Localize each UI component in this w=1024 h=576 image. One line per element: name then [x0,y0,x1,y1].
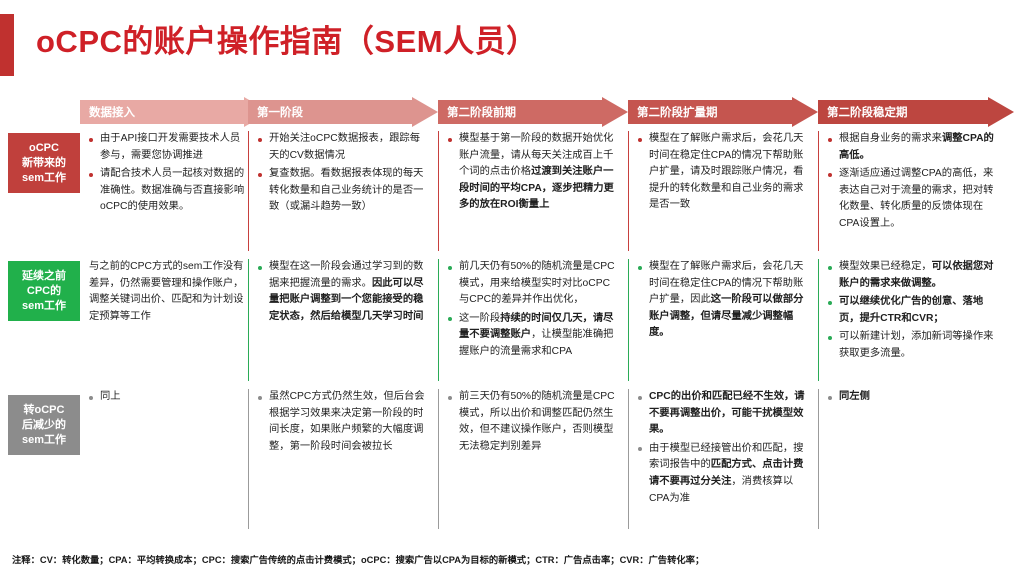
body-text: 根据自身业务的需求来 [839,133,942,144]
list-item: 由于模型已经接管出价和匹配，搜索词报告中的匹配方式、点击计费请不要再过分关注，消… [638,441,805,507]
bullet-list: 开始关注oCPC数据报表，跟踪每天的CV数据情况复查数据。看数据报表体现的每天转… [258,131,425,216]
cell-r3-c2: 虽然CPC方式仍然生效，但后台会根据学习效果来决定第一阶段的时间长度，如果账户频… [248,389,432,529]
stage-arrow-label: 第一阶段 [248,104,303,120]
row-label-line: oCPC [29,141,59,156]
cell-r3-c1: 同上 [80,389,252,529]
bullet-list: 模型在了解账户需求后，会花几天时间在稳定住CPA的情况下帮助账户扩量，因此这一阶… [638,259,805,342]
body-text: 请配合技术人员一起核对数据的准确性。数据准确与否直接影响oCPC的使用效果。 [100,168,244,212]
list-item: 可以新建计划，添加新词等操作来获取更多流量。 [828,329,1001,362]
list-item: 同左侧 [828,389,1001,406]
stage-arrow-head-icon [412,97,438,127]
list-item: 模型在了解账户需求后，会花几天时间在稳定住CPA的情况下帮助账户扩量，请及时跟踪… [638,131,805,214]
list-item: 这一阶段持续的时间仅几天，请尽量不要调整账户，让模型能准确把握账户的流量需求和C… [448,311,615,361]
row-label-3: 转oCPC后减少的sem工作 [8,395,80,455]
cell-r2-c2: 模型在这一阶段会通过学习到的数据来把握流量的需求。因此可以尽量把账户调整到一个您… [248,259,432,381]
body-text: 虽然CPC方式仍然生效，但后台会根据学习效果来决定第一阶段的时间长度，如果账户频… [269,391,425,452]
stage-arrow-4: 第二阶段扩量期 [628,97,818,127]
list-item: 模型在了解账户需求后，会花几天时间在稳定住CPA的情况下帮助账户扩量，因此这一阶… [638,259,805,342]
bullet-list: CPC的出价和匹配已经不生效，请不要再调整出价，可能干扰模型效果。由于模型已经接… [638,389,805,507]
title-bar: oCPC的账户操作指南（SEM人员） [0,14,1024,76]
body-text: 开始关注oCPC数据报表，跟踪每天的CV数据情况 [269,133,420,161]
cell-r1-c2: 开始关注oCPC数据报表，跟踪每天的CV数据情况复查数据。看数据报表体现的每天转… [248,131,432,251]
emphasis-text: 可以继续优化广告的创意、落地页，提升CTR和CVR； [839,296,983,324]
bullet-list: 前三天仍有50%的随机流量是CPC模式，所以出价和调整匹配仍然生效，但不建议操作… [448,389,615,455]
bullet-list: 同上 [89,389,245,406]
list-item: 前三天仍有50%的随机流量是CPC模式，所以出价和调整匹配仍然生效，但不建议操作… [448,389,615,455]
list-item: 开始关注oCPC数据报表，跟踪每天的CV数据情况 [258,131,425,164]
stage-arrow-head-icon [602,97,628,127]
cell-r2-c4: 模型在了解账户需求后，会花几天时间在稳定住CPA的情况下帮助账户扩量，因此这一阶… [628,259,812,381]
row-label-line: sem工作 [22,171,66,186]
stage-arrow-label: 数据接入 [80,104,135,120]
bullet-list: 由于API接口开发需要技术人员参与，需要您协调推进请配合技术人员一起核对数据的准… [89,131,245,216]
stage-arrow-header: 数据接入第一阶段第二阶段前期第二阶段扩量期第二阶段稳定期 [80,97,1014,127]
row-label-2: 延续之前CPC的sem工作 [8,261,80,321]
cell-r3-c3: 前三天仍有50%的随机流量是CPC模式，所以出价和调整匹配仍然生效，但不建议操作… [438,389,622,529]
cell-r1-c3: 模型基于第一阶段的数据开始优化账户流量，请从每天关注成百上千个词的点击价格过渡到… [438,131,622,251]
bullet-list: 同左侧 [828,389,1001,406]
row-label-line: 转oCPC [24,403,65,418]
row-label-line: 后减少的 [22,418,66,433]
row-label-line: 新带来的 [22,156,66,171]
stage-arrow-head-icon [792,97,818,127]
cell-r3-c4: CPC的出价和匹配已经不生效，请不要再调整出价，可能干扰模型效果。由于模型已经接… [628,389,812,529]
bullet-list: 模型效果已经稳定，可以依据您对账户的需求来做调整。可以继续优化广告的创意、落地页… [828,259,1001,363]
body-text: 同上 [100,391,121,402]
paragraph-text: 与之前的CPC方式的sem工作没有差异，仍然需要管理和操作账户，调整关键词出价、… [89,259,245,325]
body-text: 这一阶段 [459,313,500,324]
list-item: CPC的出价和匹配已经不生效，请不要再调整出价，可能干扰模型效果。 [638,389,805,439]
body-text: 前几天仍有50%的随机流量是CPC模式，用来给模型实时对比oCPC与CPC的差异… [459,261,615,305]
stage-arrow-1: 数据接入 [80,97,270,127]
row-label-line: sem工作 [22,433,66,448]
emphasis-text: CPC的出价和匹配已经不生效，请不要再调整出价，可能干扰模型效果。 [649,391,805,435]
row-label-line: CPC的 [27,284,61,299]
bullet-list: 前几天仍有50%的随机流量是CPC模式，用来给模型实时对比oCPC与CPC的差异… [448,259,615,361]
bullet-list: 模型基于第一阶段的数据开始优化账户流量，请从每天关注成百上千个词的点击价格过渡到… [448,131,615,214]
stage-arrow-3: 第二阶段前期 [438,97,628,127]
list-item: 模型基于第一阶段的数据开始优化账户流量，请从每天关注成百上千个词的点击价格过渡到… [448,131,615,214]
body-text: 可以新建计划，添加新词等操作来获取更多流量。 [839,331,993,359]
stage-arrow-label: 第二阶段扩量期 [628,104,718,120]
list-item: 前几天仍有50%的随机流量是CPC模式，用来给模型实时对比oCPC与CPC的差异… [448,259,615,309]
list-item: 同上 [89,389,245,406]
stage-arrow-5: 第二阶段稳定期 [818,97,1014,127]
row-label-1: oCPC新带来的sem工作 [8,133,80,193]
stage-arrow-head-icon [988,97,1014,127]
bullet-list: 虽然CPC方式仍然生效，但后台会根据学习效果来决定第一阶段的时间长度，如果账户频… [258,389,425,455]
body-text: 模型效果已经稳定， [839,261,932,272]
cell-r1-c5: 根据自身业务的需求来调整CPA的高低。逐渐适应通过调整CPA的高低，来表达自己对… [818,131,1008,251]
row-label-line: 延续之前 [22,269,66,284]
list-item: 由于API接口开发需要技术人员参与，需要您协调推进 [89,131,245,164]
cell-r2-c5: 模型效果已经稳定，可以依据您对账户的需求来做调整。可以继续优化广告的创意、落地页… [818,259,1008,381]
list-item: 模型效果已经稳定，可以依据您对账户的需求来做调整。 [828,259,1001,292]
content-grid: oCPC新带来的sem工作由于API接口开发需要技术人员参与，需要您协调推进请配… [0,131,1024,541]
cell-r3-c5: 同左侧 [818,389,1008,529]
emphasis-text: 同左侧 [839,391,870,402]
title-accent-bar [0,14,14,76]
stage-arrow-label: 第二阶段稳定期 [818,104,908,120]
body-text: 前三天仍有50%的随机流量是CPC模式，所以出价和调整匹配仍然生效，但不建议操作… [459,391,615,452]
cell-r1-c4: 模型在了解账户需求后，会花几天时间在稳定住CPA的情况下帮助账户扩量，请及时跟踪… [628,131,812,251]
slide-root: oCPC的账户操作指南（SEM人员） 数据接入第一阶段第二阶段前期第二阶段扩量期… [0,0,1024,576]
list-item: 复查数据。看数据报表体现的每天转化数量和自己业务统计的是否一致（或漏斗趋势一致） [258,166,425,216]
bullet-list: 模型在这一阶段会通过学习到的数据来把握流量的需求。因此可以尽量把账户调整到一个您… [258,259,425,325]
body-text: 逐渐适应通过调整CPA的高低，来表达自己对于流量的需求，把对转化数量、转化质量的… [839,168,993,229]
stage-arrow-label: 第二阶段前期 [438,104,516,120]
body-text: 由于API接口开发需要技术人员参与，需要您协调推进 [100,133,240,161]
list-item: 请配合技术人员一起核对数据的准确性。数据准确与否直接影响oCPC的使用效果。 [89,166,245,216]
list-item: 根据自身业务的需求来调整CPA的高低。 [828,131,1001,164]
list-item: 模型在这一阶段会通过学习到的数据来把握流量的需求。因此可以尽量把账户调整到一个您… [258,259,425,325]
body-text: 复查数据。看数据报表体现的每天转化数量和自己业务统计的是否一致（或漏斗趋势一致） [269,168,423,212]
cell-r2-c3: 前几天仍有50%的随机流量是CPC模式，用来给模型实时对比oCPC与CPC的差异… [438,259,622,381]
footnote: 注释：CV：转化数量；CPA：平均转换成本；CPC：搜索广告传统的点击计费模式；… [12,552,704,566]
stage-arrow-2: 第一阶段 [248,97,438,127]
row-label-line: sem工作 [22,299,66,314]
body-text: 模型在了解账户需求后，会花几天时间在稳定住CPA的情况下帮助账户扩量，请及时跟踪… [649,133,803,210]
cell-r2-c1: 与之前的CPC方式的sem工作没有差异，仍然需要管理和操作账户，调整关键词出价、… [80,259,252,381]
bullet-list: 根据自身业务的需求来调整CPA的高低。逐渐适应通过调整CPA的高低，来表达自己对… [828,131,1001,233]
list-item: 逐渐适应通过调整CPA的高低，来表达自己对于流量的需求，把对转化数量、转化质量的… [828,166,1001,232]
bullet-list: 模型在了解账户需求后，会花几天时间在稳定住CPA的情况下帮助账户扩量，请及时跟踪… [638,131,805,214]
list-item: 虽然CPC方式仍然生效，但后台会根据学习效果来决定第一阶段的时间长度，如果账户频… [258,389,425,455]
list-item: 可以继续优化广告的创意、落地页，提升CTR和CVR； [828,294,1001,327]
cell-r1-c1: 由于API接口开发需要技术人员参与，需要您协调推进请配合技术人员一起核对数据的准… [80,131,252,251]
page-title: oCPC的账户操作指南（SEM人员） [36,16,538,61]
